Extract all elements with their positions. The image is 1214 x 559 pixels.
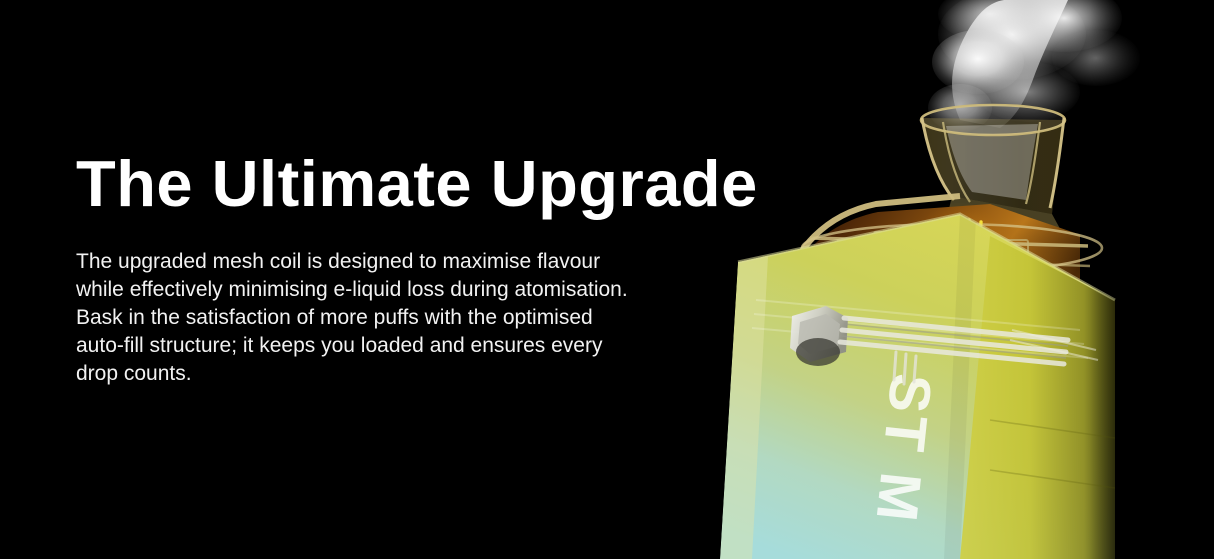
- promo-banner: The Ultimate Upgrade The upgraded mesh c…: [0, 0, 1214, 559]
- body-paragraph: The upgraded mesh coil is designed to ma…: [76, 220, 646, 388]
- page-title: The Ultimate Upgrade: [76, 148, 796, 220]
- copy-block: The Ultimate Upgrade The upgraded mesh c…: [76, 148, 796, 388]
